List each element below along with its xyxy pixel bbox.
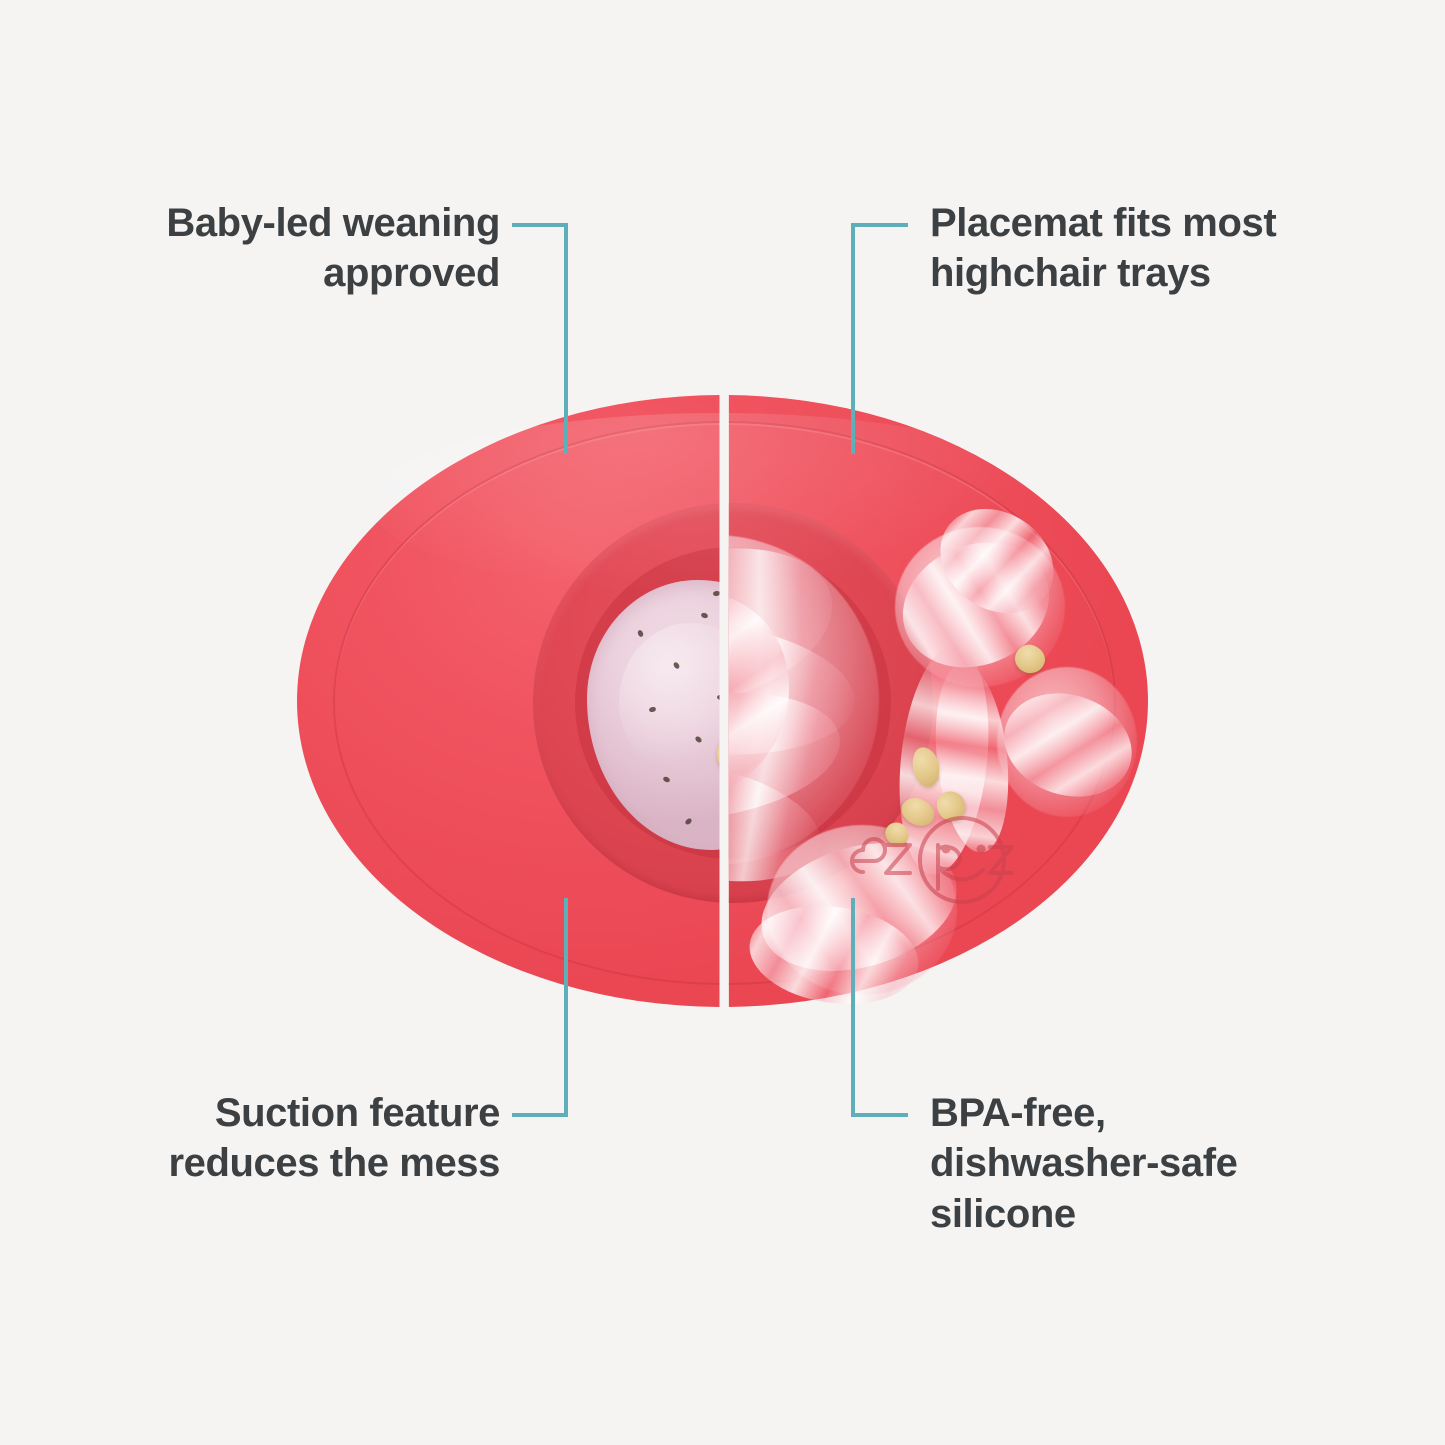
ezpz-logo-icon — [842, 815, 1032, 905]
callout-suction-feature: Suction feature reduces the mess — [60, 1088, 500, 1189]
callout-bpa-free: BPA-free, dishwasher-safe silicone — [930, 1088, 1350, 1239]
split-seam — [722, 380, 727, 1020]
infographic-canvas: Baby-led weaning approved Placemat fits … — [0, 0, 1445, 1445]
callout-baby-led-weaning: Baby-led weaning approved — [60, 198, 500, 299]
callout-placemat-fits: Placemat fits most highchair trays — [930, 198, 1380, 299]
